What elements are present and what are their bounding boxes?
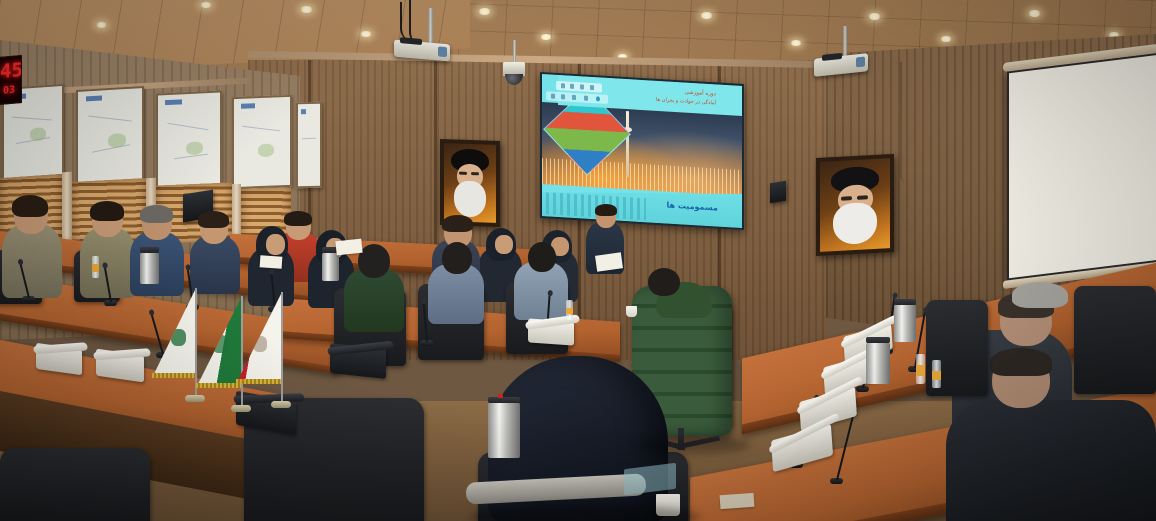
attendee-body: [190, 236, 240, 294]
slide-title-line2: آمادگی در حوادث و بحران ها: [656, 97, 716, 107]
slide-title-line1: دوره آموزشی: [684, 90, 716, 98]
projector-mount-pole: [843, 26, 847, 58]
shadow: [640, 436, 750, 454]
flag-emblem: [212, 335, 228, 353]
ceiling-light: [540, 34, 552, 40]
portrait-khamenei: [816, 154, 894, 256]
attendee-hair: [442, 215, 473, 232]
attendee-hair-gray: [1012, 282, 1068, 308]
water-bottle: [92, 256, 99, 278]
flag-stand: [271, 401, 291, 408]
attendee-face: [495, 235, 513, 254]
wall-speaker: [770, 181, 786, 204]
ceiling-light: [868, 13, 881, 20]
water-bottle: [566, 300, 573, 320]
slide-footer-text: مسمومیت ها: [667, 200, 719, 212]
vacuum-flask: [866, 342, 890, 384]
attendee-face: [266, 234, 285, 255]
ceiling-light: [1028, 10, 1041, 17]
ceiling-light: [478, 8, 491, 15]
wall-map: [232, 95, 292, 189]
wall-map: [156, 90, 222, 189]
led-clock-main: 45: [0, 59, 22, 83]
projector-cable: [900, 62, 906, 182]
vacuum-flask: [140, 252, 159, 284]
ceiling-light: [790, 40, 802, 46]
flag-emblem: [171, 329, 186, 346]
attendee-hair: [90, 201, 124, 221]
handout-paper: [335, 239, 362, 256]
attendee-head: [442, 242, 472, 274]
attendee-hair: [198, 211, 229, 228]
led-clock-display: 45 03: [0, 55, 22, 105]
presentation-slide: دوره آموزشی آمادگی در حوادث و بحران ها م…: [542, 74, 742, 228]
desk-flag-green-white: [152, 288, 196, 378]
vacuum-flask: [894, 304, 916, 342]
ceiling-light: [300, 6, 313, 13]
ceiling-light: [940, 36, 952, 42]
desk-telephone[interactable]: [528, 318, 574, 345]
handout-paper: [260, 255, 283, 269]
slide-milad-tower: [626, 111, 629, 177]
led-clock-sub: 03: [3, 85, 15, 97]
vacuum-flask: [488, 402, 520, 458]
presenter-hair: [595, 204, 617, 216]
ceiling-light: [200, 2, 212, 8]
ceiling-light: [700, 12, 713, 19]
paper-cup: [626, 306, 637, 317]
portrait-khomeini: [440, 139, 500, 227]
water-bottle: [932, 360, 941, 388]
office-chair: [1074, 286, 1156, 394]
flag-emblem: [253, 336, 267, 352]
wall-map: [76, 86, 144, 186]
flag-stand: [231, 405, 251, 412]
attendee-head: [528, 242, 556, 272]
attendee-head: [358, 244, 390, 278]
desk-flag-red-white: [236, 292, 282, 384]
ceiling-light: [96, 22, 107, 28]
office-chair: [0, 448, 150, 521]
attendee-body: [946, 400, 1156, 521]
attendee-hair: [284, 211, 312, 226]
attendee-hair: [990, 348, 1052, 376]
attendee-hair: [12, 195, 48, 217]
attendee-body: [2, 224, 62, 298]
projection-screen: دوره آموزشی آمادگی در حوادث و بحران ها م…: [540, 72, 744, 230]
attendee-head: [648, 268, 680, 296]
water-bottle: [916, 354, 925, 384]
handout-paper: [720, 493, 755, 509]
desk-telephone[interactable]: [330, 343, 386, 379]
flag-stand: [185, 395, 205, 402]
wall-map: [296, 102, 322, 189]
conference-room-photo: 45 03 دوره آموزشی: [0, 0, 1156, 521]
camera-mount-pole: [513, 40, 516, 64]
projection-screen-blank: [1007, 53, 1156, 281]
blinds-divider: [62, 172, 72, 245]
attendee-hair: [140, 205, 173, 223]
vacuum-flask: [322, 252, 339, 281]
ceiling-light: [360, 31, 372, 37]
